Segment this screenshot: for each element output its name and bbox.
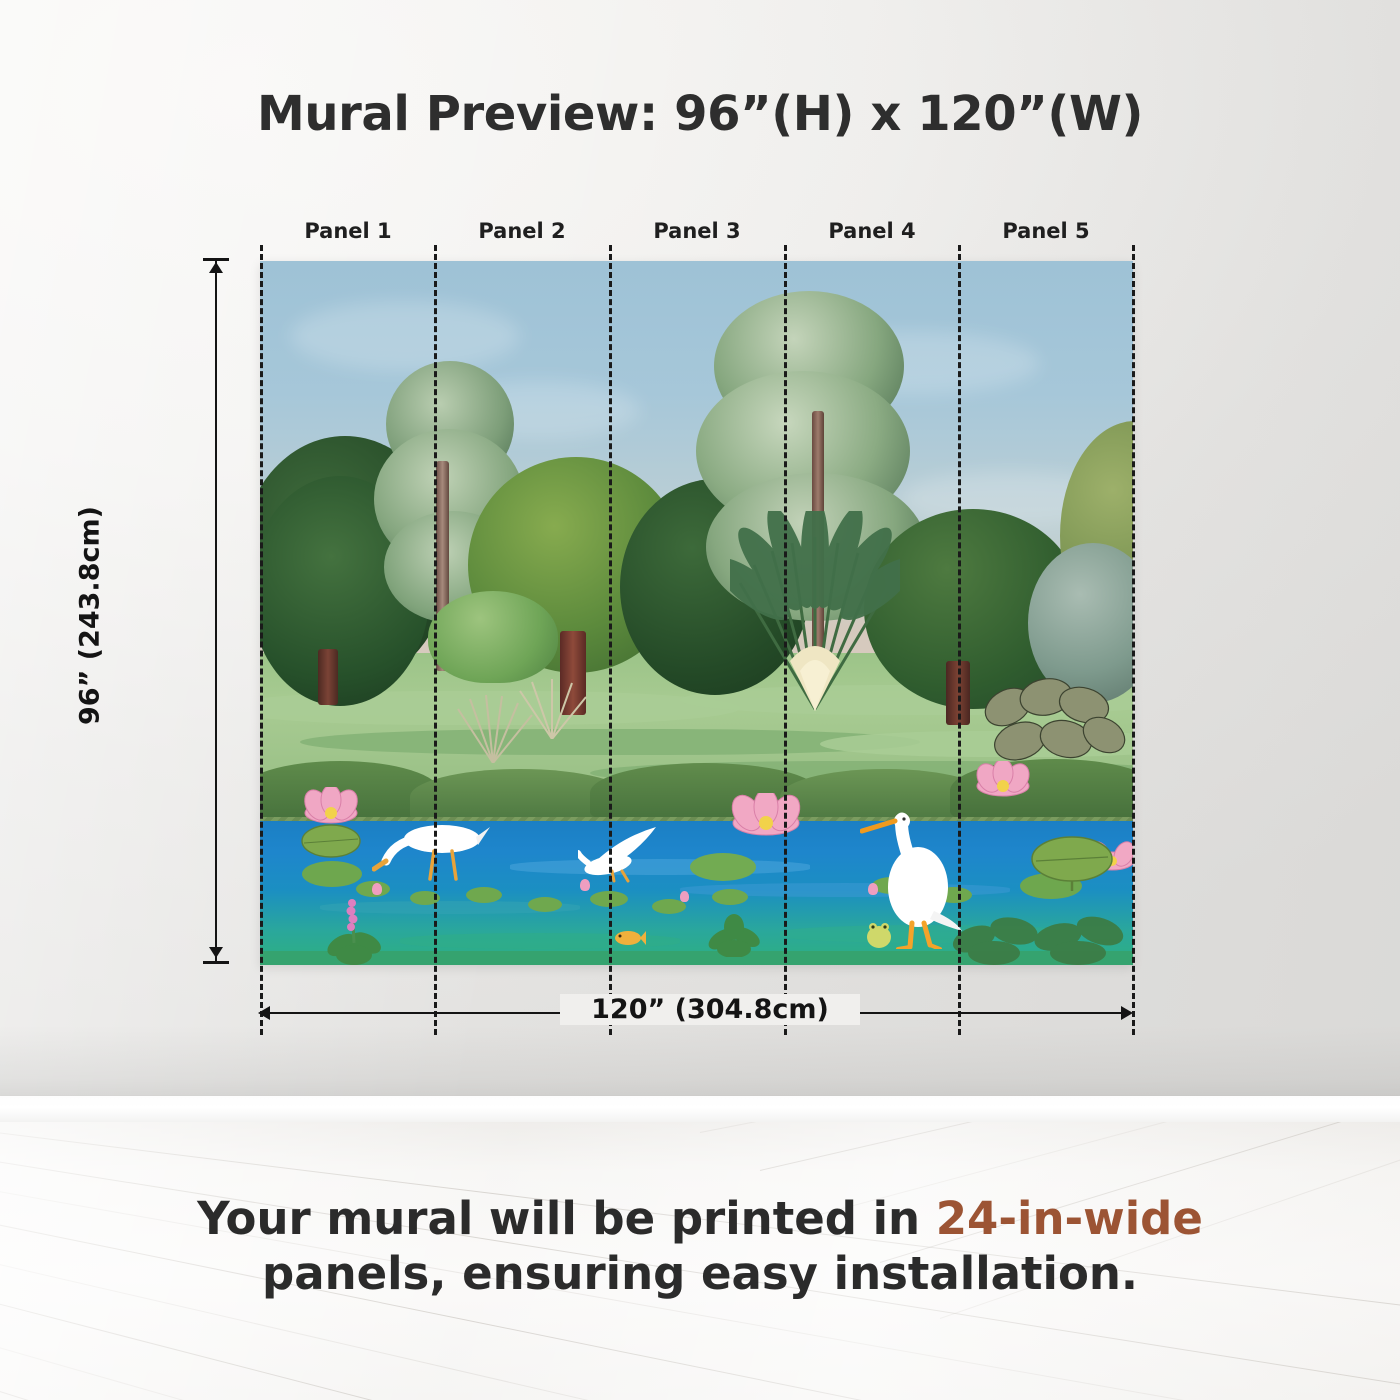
lily-pad (712, 889, 748, 905)
panel-guide-line-1 (434, 245, 437, 1035)
height-dimension-line (215, 258, 217, 964)
caption-accent-panel-width: 24-in-wide (936, 1192, 1203, 1245)
footer-caption: Your mural will be printed in 24-in-wide… (90, 1192, 1310, 1302)
lotus-flower (974, 761, 1032, 805)
flying-egret (578, 821, 674, 883)
leaf-bush (428, 591, 558, 683)
panel-label-4: Panel 4 (784, 219, 960, 243)
panel-guide-line-4 (958, 245, 961, 1035)
lily-pad (528, 897, 562, 912)
panel-label-2: Panel 2 (434, 219, 610, 243)
width-dimension-label: 120” (304.8cm) (560, 994, 860, 1025)
panel-guide-line-left-edge (260, 245, 263, 1035)
cloud (290, 301, 520, 371)
height-arrow-up (209, 262, 223, 273)
mural-artwork (260, 261, 1133, 965)
wall-floor-shadow (0, 1026, 1400, 1096)
height-arrow-down (209, 947, 223, 958)
panel-guide-line-right-edge (1132, 245, 1135, 1035)
mural-preview-scene: Mural Preview: 96”(H) x 120”(W) Panel 1 … (0, 0, 1400, 1400)
lotus-bud (680, 891, 689, 902)
lotus-flower (730, 793, 802, 847)
aquatic-plant (704, 905, 764, 957)
bank-foliage (950, 887, 1130, 965)
caption-line-1: Your mural will be printed in 24-in-wide (90, 1192, 1310, 1247)
page-title: Mural Preview: 96”(H) x 120”(W) (0, 86, 1400, 142)
panel-label-1: Panel 1 (260, 219, 436, 243)
lily-pad (466, 887, 502, 903)
panel-guide-line-3 (784, 245, 787, 1035)
large-leaf (1030, 833, 1114, 893)
panel-label-5: Panel 5 (958, 219, 1134, 243)
panel-label-3: Panel 3 (609, 219, 785, 243)
panel-guide-line-2 (609, 245, 612, 1035)
lily-pad (690, 853, 756, 881)
height-dimension-label: 96” (243.8cm) (75, 466, 106, 766)
width-arrow-right (1121, 1006, 1133, 1020)
wading-crane (372, 817, 492, 887)
large-leaf (300, 821, 362, 865)
tree-trunk (318, 649, 338, 705)
height-tick-bottom (203, 961, 229, 964)
travelers-palm (730, 511, 900, 711)
width-arrow-left (258, 1006, 270, 1020)
caption-text-pre: Your mural will be printed in (197, 1192, 936, 1245)
baseboard (0, 1096, 1400, 1122)
height-tick-top (203, 258, 229, 261)
frog (862, 919, 896, 949)
koi-fish (610, 927, 646, 949)
caption-line-2: panels, ensuring easy installation. (90, 1247, 1310, 1302)
reed-plant (320, 883, 390, 965)
grass-tuft (512, 677, 592, 739)
